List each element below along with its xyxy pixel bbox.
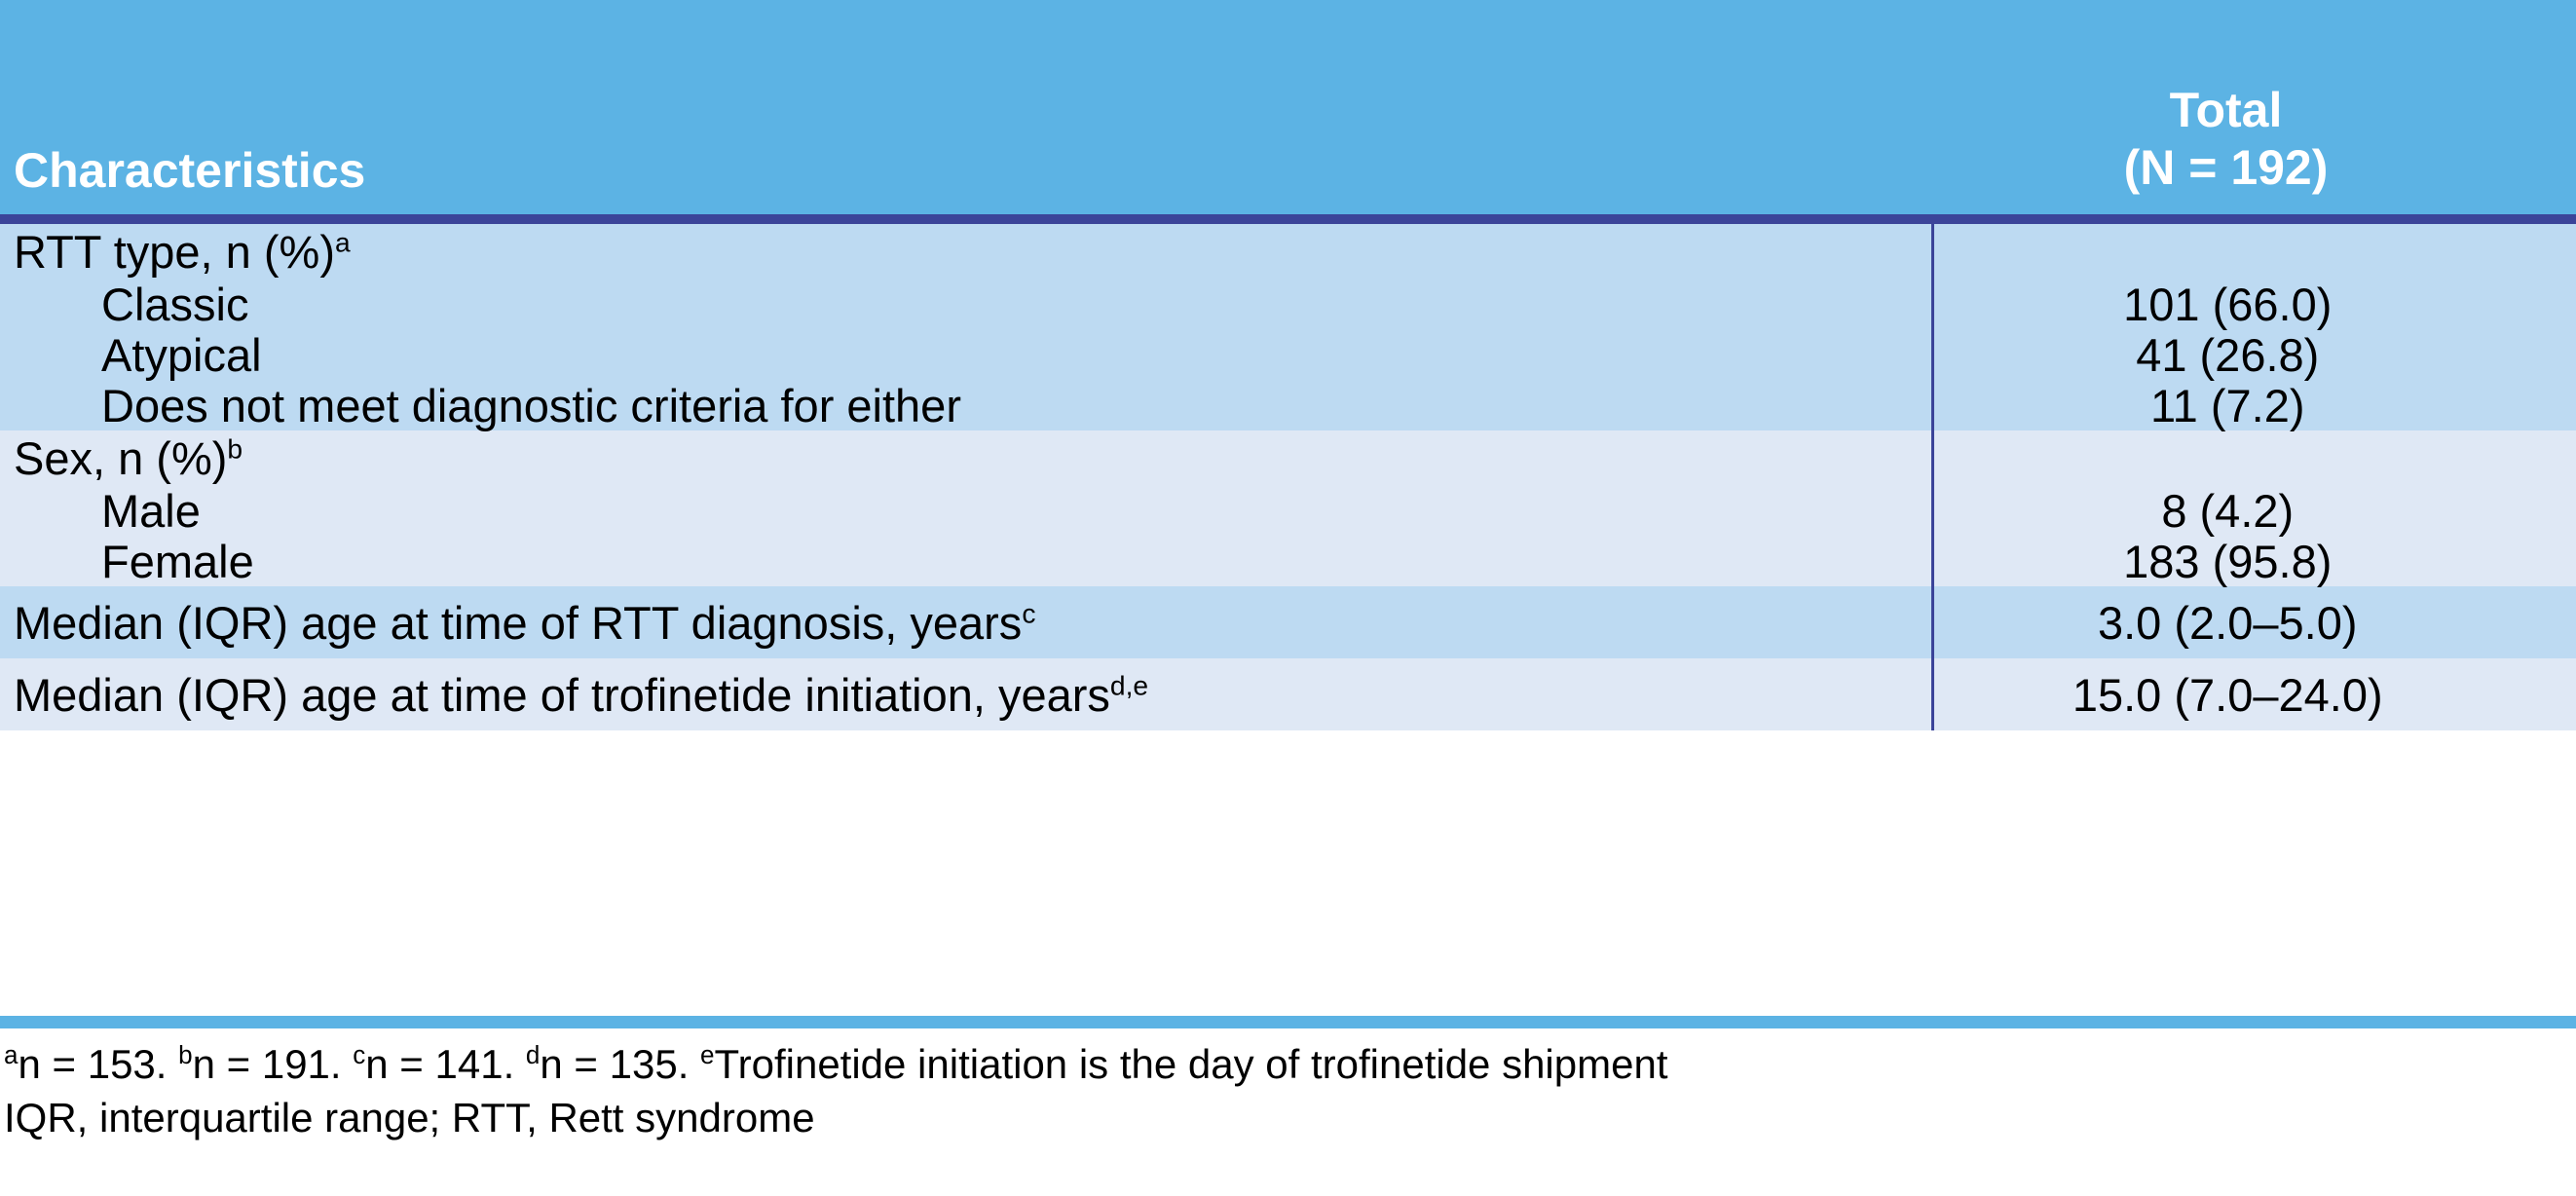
row-label-median-age-diagnosis: Median (IQR) age at time of RTT diagnosi… bbox=[0, 586, 1932, 658]
table-header: Characteristics Total (N = 192) bbox=[0, 0, 2576, 219]
table-header-row: Characteristics Total (N = 192) bbox=[0, 0, 2576, 219]
table-row: RTT type, n (%)a bbox=[0, 219, 2576, 279]
footnote-text-c: n = 141. bbox=[365, 1041, 526, 1087]
row-label-male: Male bbox=[0, 485, 1932, 536]
table-row: Female 183 (95.8) bbox=[0, 536, 2576, 586]
footnote-marker-c: c bbox=[1022, 597, 1035, 628]
table-row: Does not meet diagnostic criteria for ei… bbox=[0, 380, 2576, 430]
footnote-marker-e-ref: e bbox=[700, 1040, 714, 1069]
row-value-rtt-type bbox=[1932, 219, 2576, 279]
row-label-text: RTT type, n (%) bbox=[14, 226, 335, 278]
row-value-sex bbox=[1932, 430, 2576, 485]
column-header-total: Total (N = 192) bbox=[1932, 0, 2576, 219]
footnote-marker-b: b bbox=[227, 432, 243, 464]
column-header-total-line2: (N = 192) bbox=[1932, 139, 2520, 197]
footnote-marker-a: a bbox=[335, 226, 351, 257]
row-value-female: 183 (95.8) bbox=[1932, 536, 2576, 586]
table-row: Sex, n (%)b bbox=[0, 430, 2576, 485]
footnote-text-e: Trofinetide initiation is the day of tro… bbox=[715, 1041, 1668, 1087]
row-label-female: Female bbox=[0, 536, 1932, 586]
footnote-marker-a-ref: a bbox=[4, 1040, 18, 1069]
footnote-text-d: n = 135. bbox=[540, 1041, 700, 1087]
row-label-no-criteria: Does not meet diagnostic criteria for ei… bbox=[0, 380, 1932, 430]
row-label-text: Median (IQR) age at time of RTT diagnosi… bbox=[14, 597, 1022, 649]
row-label-classic: Classic bbox=[0, 279, 1932, 329]
row-label-rtt-type: RTT type, n (%)a bbox=[0, 219, 1932, 279]
footnote-marker-b-ref: b bbox=[178, 1040, 192, 1069]
statistics-table-wrapper: Characteristics Total (N = 192) RTT type… bbox=[0, 0, 2576, 730]
statistics-table: Characteristics Total (N = 192) RTT type… bbox=[0, 0, 2576, 730]
row-label-text: Median (IQR) age at time of trofinetide … bbox=[14, 669, 1110, 721]
row-value-median-age-diagnosis: 3.0 (2.0–5.0) bbox=[1932, 586, 2576, 658]
footnote-text-a: n = 153. bbox=[18, 1041, 178, 1087]
row-label-median-age-initiation: Median (IQR) age at time of trofinetide … bbox=[0, 658, 1932, 730]
table-row: Median (IQR) age at time of trofinetide … bbox=[0, 658, 2576, 730]
table-figure: Characteristics Total (N = 192) RTT type… bbox=[0, 0, 2576, 1196]
footnote-marker-de: d,e bbox=[1110, 669, 1148, 700]
table-body: RTT type, n (%)a Classic 101 (66.0) Atyp… bbox=[0, 219, 2576, 730]
row-value-male: 8 (4.2) bbox=[1932, 485, 2576, 536]
footnote-line-1: an = 153. bn = 191. cn = 141. dn = 135. … bbox=[4, 1038, 2536, 1092]
column-header-total-line1: Total bbox=[1932, 82, 2520, 139]
row-value-atypical: 41 (26.8) bbox=[1932, 329, 2576, 380]
row-label-atypical: Atypical bbox=[0, 329, 1932, 380]
row-label-text: Sex, n (%) bbox=[14, 432, 227, 484]
row-value-classic: 101 (66.0) bbox=[1932, 279, 2576, 329]
table-row: Male 8 (4.2) bbox=[0, 485, 2576, 536]
footnotes: an = 153. bn = 191. cn = 141. dn = 135. … bbox=[4, 1038, 2536, 1144]
table-row: Atypical 41 (26.8) bbox=[0, 329, 2576, 380]
row-value-median-age-initiation: 15.0 (7.0–24.0) bbox=[1932, 658, 2576, 730]
footnote-marker-c-ref: c bbox=[353, 1040, 365, 1069]
table-bottom-rule bbox=[0, 1016, 2576, 1028]
row-label-sex: Sex, n (%)b bbox=[0, 430, 1932, 485]
footnote-line-2: IQR, interquartile range; RTT, Rett synd… bbox=[4, 1092, 2536, 1145]
row-value-no-criteria: 11 (7.2) bbox=[1932, 380, 2576, 430]
footnote-text-b: n = 191. bbox=[193, 1041, 354, 1087]
footnote-marker-d-ref: d bbox=[526, 1040, 540, 1069]
table-row: Classic 101 (66.0) bbox=[0, 279, 2576, 329]
table-row: Median (IQR) age at time of RTT diagnosi… bbox=[0, 586, 2576, 658]
column-header-characteristics: Characteristics bbox=[0, 0, 1932, 219]
